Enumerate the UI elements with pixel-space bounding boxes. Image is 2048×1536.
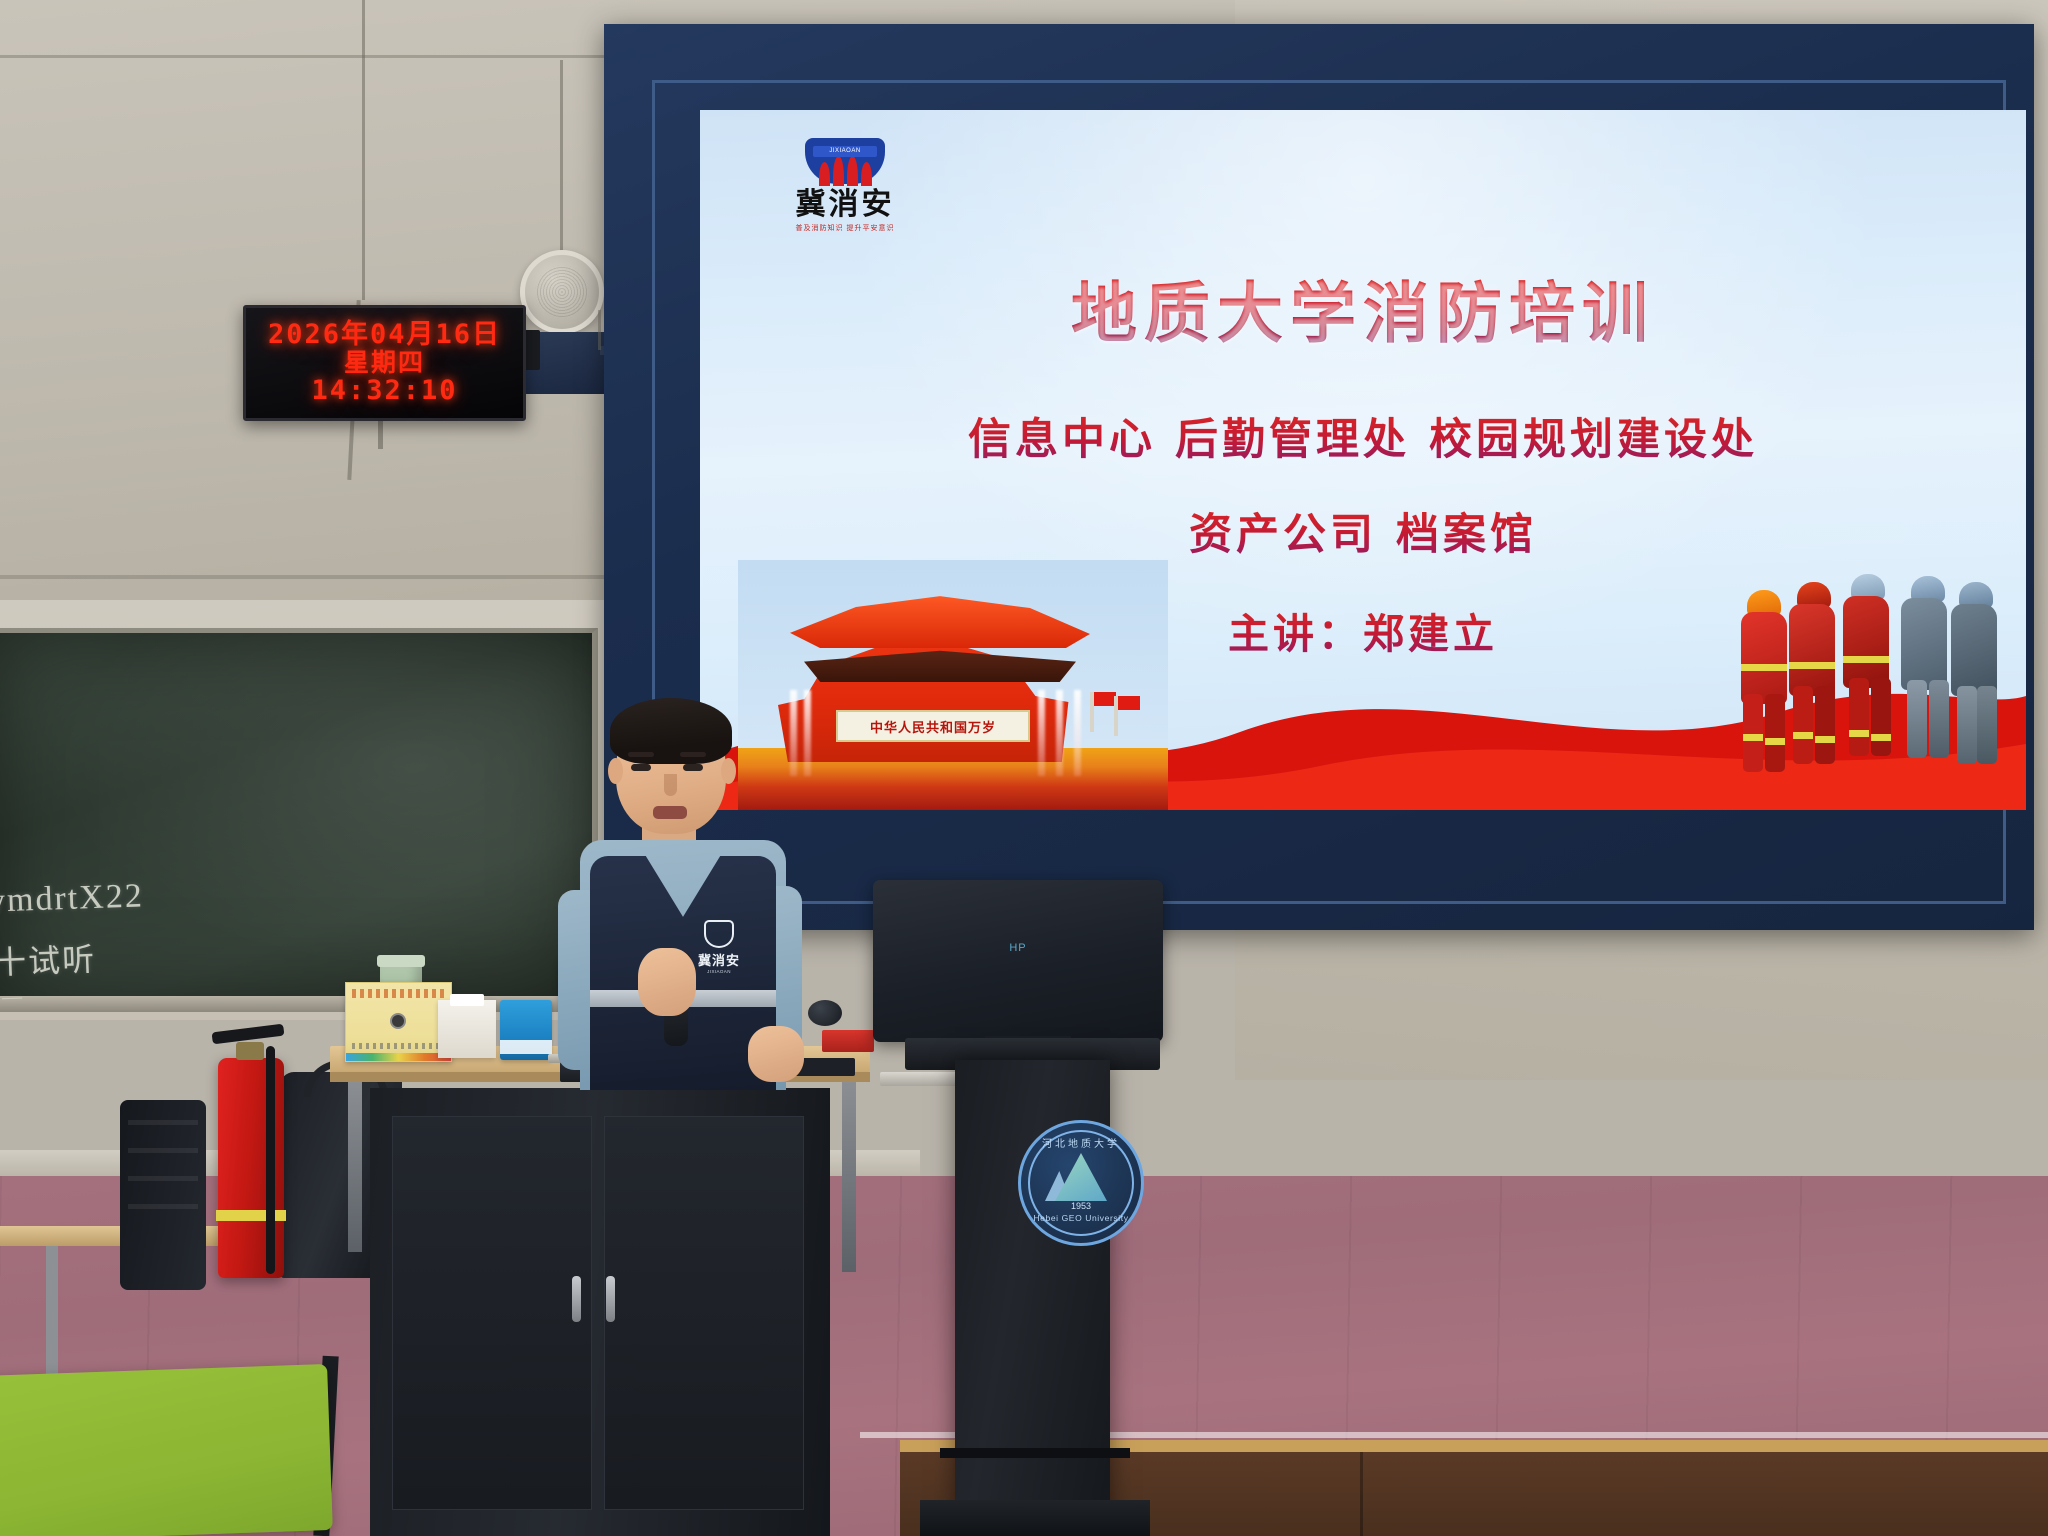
firefighter-leg-3a <box>1849 678 1869 756</box>
presenter-ear-right <box>721 758 736 784</box>
led-clock-display: 2026年04月16日 星期四 14:32:10 <box>243 305 526 421</box>
presenter-hand-right <box>638 948 696 1016</box>
presenter-hand-left <box>748 1026 804 1082</box>
firefighter-leg-3b <box>1871 678 1891 756</box>
shield-icon: JIXIAOAN <box>805 132 885 188</box>
equipment-case <box>120 1100 206 1290</box>
shield-base <box>805 138 885 184</box>
classroom-scene: ymdrtX22 十试听 — 2026年04月16日 星期四 14:32:10 <box>0 0 2048 1536</box>
firefighter-body-2 <box>1789 604 1835 696</box>
clock-time: 14:32:10 <box>311 377 457 405</box>
slide-subtitle-1: 信息中心 后勤管理处 校园规划建设处 <box>700 405 2026 467</box>
chalkboard-text-3: — <box>2 986 25 1010</box>
clock-date: 2026年04月16日 <box>268 321 501 349</box>
fountain-3 <box>1038 690 1045 776</box>
podium-monitor[interactable]: HP <box>873 880 1163 1042</box>
cabinet-handle-left[interactable] <box>572 1276 581 1322</box>
firefighter-body-4 <box>1901 598 1947 690</box>
green-chair[interactable] <box>0 1364 333 1536</box>
extinguisher-neck <box>236 1042 264 1060</box>
extinguisher-hose <box>266 1046 275 1274</box>
presenter-eye-left <box>631 764 651 771</box>
cabinet-handle-right[interactable] <box>606 1276 615 1322</box>
speaker-cable <box>598 310 601 350</box>
wall-speaker-icon <box>520 250 604 334</box>
firefighter-leg-5b <box>1977 686 1997 764</box>
folder-color-strip <box>346 1053 451 1061</box>
flag-1 <box>1090 692 1094 732</box>
chalkboard-text-1: ymdrtX22 <box>0 877 144 920</box>
firefighter-leg-5a <box>1957 686 1977 764</box>
firefighter-leg-1a <box>1743 694 1763 772</box>
fire-extinguisher <box>218 1058 284 1278</box>
flag-2 <box>1114 696 1118 736</box>
slide-title: 地质大学消防培训 <box>700 260 2026 356</box>
firefighter-body-1 <box>1741 612 1787 704</box>
wall-seam-top <box>0 55 620 58</box>
presenter: 冀消安 JIXIAOAN <box>546 690 816 1090</box>
fountain-4 <box>1056 690 1063 776</box>
monitor-foot <box>940 1448 1130 1458</box>
fountain-5 <box>1074 690 1081 776</box>
tiananmen-banner: 中华人民共和国万岁 <box>836 710 1030 742</box>
desk-leg-right <box>842 1082 856 1272</box>
university-emblem: 河北地质大学 1953 Hebei GEO University <box>1018 1120 1144 1246</box>
desk-leg-left <box>348 1082 362 1252</box>
chalkboard-text-2: 十试听 <box>0 934 97 984</box>
shield-band-text: JIXIAOAN <box>813 146 877 157</box>
firefighter-leg-4b <box>1929 680 1949 758</box>
clock-weekday: 星期四 <box>344 350 425 376</box>
tissue-sheet <box>450 994 484 1006</box>
firefighter-leg-2a <box>1793 686 1813 764</box>
monitor-brand-label: HP <box>1009 942 1026 954</box>
wall-crack-3 <box>560 60 563 270</box>
logo-tagline: 普及消防知识 提升平安意识 <box>780 223 910 233</box>
tissue-box[interactable] <box>438 1000 496 1058</box>
presentation-slide: JIXIAOAN 冀消安 普及消防知识 提升平安意识 地质大学消防培训 信息中心… <box>700 110 2026 810</box>
emblem-name-cn: 河北地质大学 <box>1021 1135 1141 1150</box>
emblem-name-en: Hebei GEO University <box>1021 1213 1141 1223</box>
yellow-notice-folder[interactable] <box>345 982 452 1062</box>
folder-header-text <box>352 989 445 998</box>
presenter-brow-left <box>628 752 654 757</box>
wall-seam-bottom <box>0 575 620 579</box>
extinguisher-band <box>216 1210 286 1221</box>
firefighter-leg-2b <box>1815 686 1835 764</box>
presenter-mouth <box>653 806 687 819</box>
cabinet-door-left[interactable] <box>392 1116 592 1510</box>
vest-logo-subtext: JIXIAOAN <box>688 969 750 974</box>
blue-box-label <box>500 1040 552 1054</box>
presenter-eye-right <box>683 764 703 771</box>
vest-badge-icon <box>704 920 734 948</box>
folder-seal-icon <box>390 1013 406 1029</box>
podium-base <box>920 1500 1150 1536</box>
folder-body-text <box>352 1043 445 1049</box>
presenter-nose <box>664 774 677 796</box>
presenter-ear-left <box>608 758 623 784</box>
av-cabinet[interactable] <box>370 1088 830 1536</box>
shield-band: JIXIAOAN <box>813 146 877 157</box>
emblem-year: 1953 <box>1021 1201 1141 1211</box>
slide-subtitle-2: 资产公司 档案馆 <box>700 500 2026 562</box>
wall-crack-1 <box>362 0 365 300</box>
vest-logo: 冀消安 JIXIAOAN <box>688 920 750 974</box>
vest-logo-text: 冀消安 <box>688 950 750 969</box>
firefighters-graphic <box>1737 567 2012 772</box>
logo-name: 冀消安 <box>780 190 910 220</box>
cabinet-door-right[interactable] <box>604 1116 804 1510</box>
tiananmen-banner-text: 中华人民共和国万岁 <box>870 717 996 736</box>
blue-supply-box[interactable] <box>500 1000 552 1060</box>
red-case[interactable] <box>822 1030 874 1052</box>
firefighter-body-3 <box>1843 596 1889 688</box>
firefighter-leg-4a <box>1907 680 1927 758</box>
firefighter-leg-1b <box>1765 694 1785 772</box>
cup-lid <box>377 955 425 967</box>
presenter-brow-right <box>680 752 706 757</box>
jixiaoan-logo: JIXIAOAN 冀消安 普及消防知识 提升平安意识 <box>780 132 910 240</box>
firefighter-body-5 <box>1951 604 1997 696</box>
